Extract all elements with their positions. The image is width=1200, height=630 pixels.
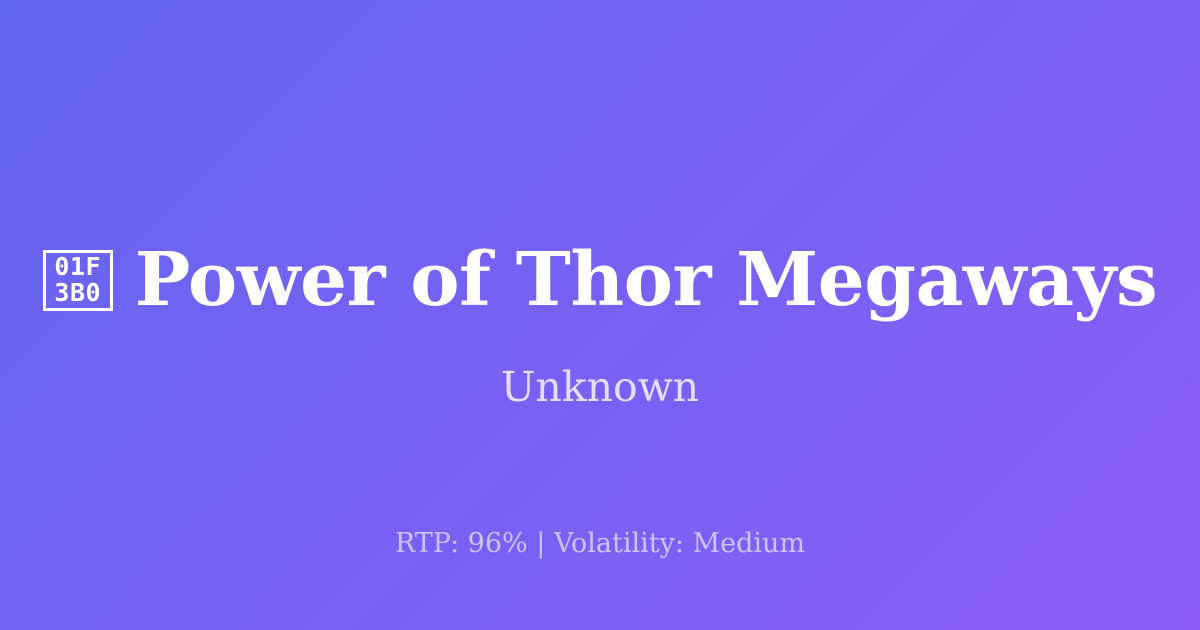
tofu-codepoint-top: 01F: [54, 254, 101, 280]
title-row: 01F 3B0 Power of Thor Megaways: [0, 236, 1200, 324]
page-subtitle: Unknown: [0, 362, 1200, 412]
game-meta-line: RTP: 96% | Volatility: Medium: [0, 526, 1200, 562]
tofu-codepoint-bottom: 3B0: [54, 280, 101, 306]
slot-machine-icon: 01F 3B0: [43, 250, 113, 311]
og-share-card: 01F 3B0 Power of Thor Megaways Unknown R…: [0, 0, 1200, 630]
page-title: Power of Thor Megaways: [135, 236, 1157, 324]
